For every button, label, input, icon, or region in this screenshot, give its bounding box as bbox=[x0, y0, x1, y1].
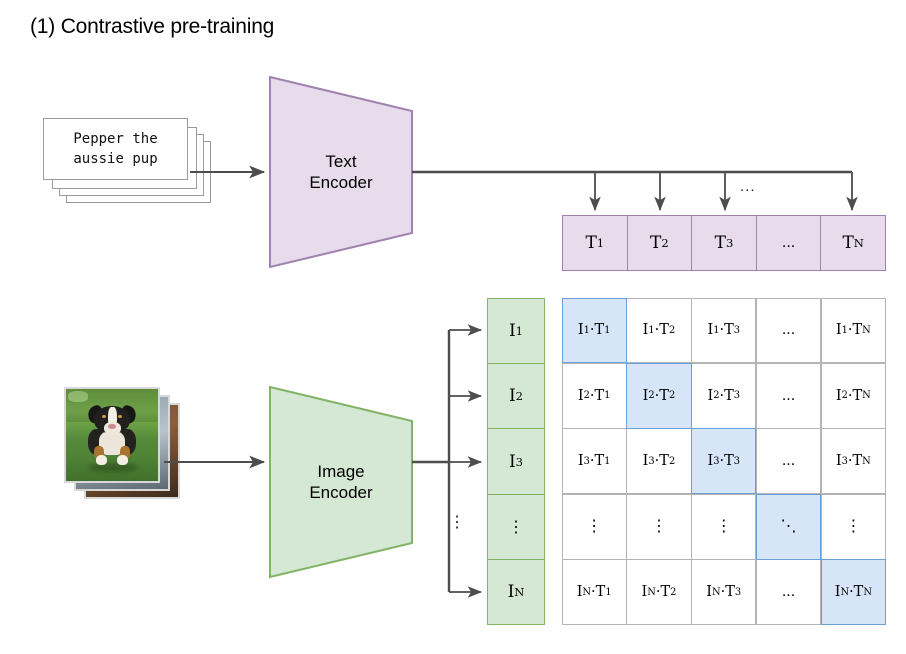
matrix-cell: ⋮ bbox=[562, 494, 627, 560]
image-trunk-ellipsis: ⋮ bbox=[449, 512, 465, 532]
text-encoder-label: Text Encoder bbox=[309, 151, 372, 193]
similarity-matrix: I1·T1I1·T2I1·T3...I1·TNI2·T1I2·T2I2·T3..… bbox=[562, 298, 886, 625]
image-embedding-cell: I1 bbox=[487, 298, 545, 364]
matrix-cell: I2·T3 bbox=[691, 363, 756, 429]
matrix-cell: IN·T3 bbox=[691, 559, 756, 625]
matrix-cell: I3·TN bbox=[821, 428, 886, 494]
text-trunk-ellipsis: ... bbox=[740, 178, 756, 195]
matrix-cell: I2·T1 bbox=[562, 363, 627, 429]
matrix-cell-diagonal: I2·T2 bbox=[626, 363, 691, 429]
text-embedding-cell: T1 bbox=[562, 215, 628, 271]
matrix-cell: ⋮ bbox=[691, 494, 756, 560]
matrix-cell-diagonal: IN·TN bbox=[821, 559, 886, 625]
matrix-cell: IN·T1 bbox=[562, 559, 627, 625]
matrix-cell: I3·T2 bbox=[626, 428, 691, 494]
matrix-cell: ... bbox=[756, 363, 821, 429]
matrix-cell: I1·TN bbox=[821, 298, 886, 364]
text-embedding-row: T1T2T3...TN bbox=[562, 215, 886, 271]
matrix-cell: ... bbox=[756, 428, 821, 494]
image-embedding-cell: ⋮ bbox=[487, 494, 545, 560]
figure-canvas: (1) Contrastive pre-training Pepper the … bbox=[0, 0, 906, 654]
text-embedding-cell: T3 bbox=[691, 215, 757, 271]
matrix-cell-diagonal: I3·T3 bbox=[691, 428, 756, 494]
image-encoder-label: Image Encoder bbox=[309, 461, 372, 503]
image-embedding-cell: IN bbox=[487, 559, 545, 625]
matrix-cell: ⋮ bbox=[821, 494, 886, 560]
matrix-cell: ... bbox=[756, 559, 821, 625]
matrix-cell-diagonal: I1·T1 bbox=[562, 298, 627, 364]
matrix-cell: I3·T1 bbox=[562, 428, 627, 494]
matrix-cell: I2·TN bbox=[821, 363, 886, 429]
image-embedding-column: I1I2I3⋮IN bbox=[487, 298, 545, 625]
matrix-cell: I1·T3 bbox=[691, 298, 756, 364]
matrix-cell-diagonal: ⋱ bbox=[756, 494, 821, 560]
text-embedding-cell: TN bbox=[820, 215, 886, 271]
image-embedding-cell: I2 bbox=[487, 363, 545, 429]
matrix-cell: I1·T2 bbox=[626, 298, 691, 364]
matrix-cell: ... bbox=[756, 298, 821, 364]
matrix-cell: IN·T2 bbox=[626, 559, 691, 625]
text-embedding-cell: ... bbox=[756, 215, 822, 271]
text-embedding-cell: T2 bbox=[627, 215, 693, 271]
image-embedding-cell: I3 bbox=[487, 428, 545, 494]
matrix-cell: ⋮ bbox=[626, 494, 691, 560]
